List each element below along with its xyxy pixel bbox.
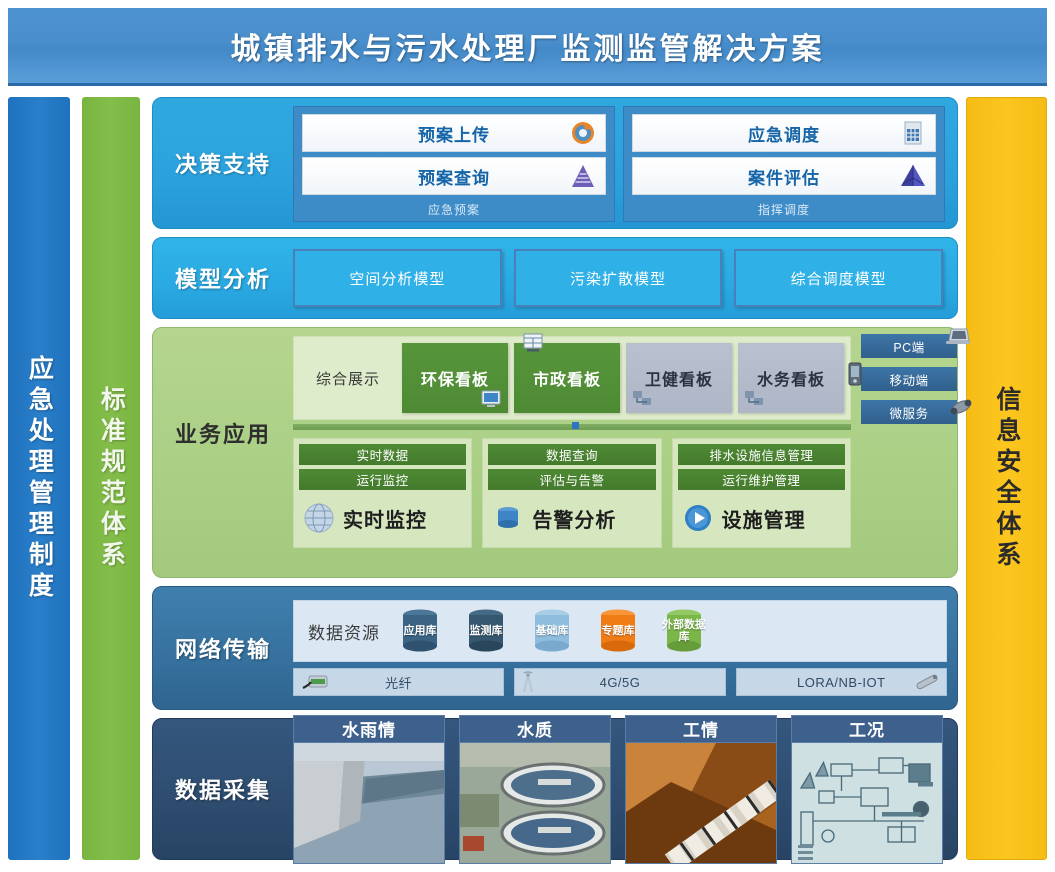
acquisition-card-water-quality[interactable]: 水质 [459, 715, 611, 864]
layer-decision-support: 决策支持 预案上传 预案查询 应急预案 [152, 97, 958, 229]
transport-item-lora[interactable]: LORA/NB-IOT [736, 668, 947, 696]
fiber-cable-icon [302, 671, 332, 693]
antenna-tower-icon [513, 671, 543, 693]
decision-item-emergency-dispatch[interactable]: 应急调度 [632, 114, 936, 152]
model-box-spatial[interactable]: 空间分析模型 [293, 249, 502, 307]
pillar-information-security: 信息安全体系 [966, 97, 1047, 860]
device-access-column: PC端 移动端 微服务 [861, 328, 957, 424]
decision-group-caption: 指挥调度 [632, 200, 936, 218]
dashboard-tile-label: 水务看板 [757, 366, 825, 390]
acquisition-card-hydrology[interactable]: 水雨情 [293, 715, 445, 864]
database-icon [490, 500, 526, 536]
sedimentation-tanks-photo [459, 743, 611, 864]
laptop-icon [945, 326, 971, 348]
acquisition-label: 工情 [625, 715, 777, 743]
monitor-icon [480, 389, 502, 409]
business-main-label: 设施管理 [722, 504, 806, 533]
dashboard-title: 综合展示 [300, 343, 396, 413]
network-icon [631, 388, 653, 408]
dashboard-strip: 综合展示 环保看板 市政看板 卫健看板 [293, 336, 851, 420]
database-label: 外部数据库 [658, 608, 710, 654]
data-resource-title: 数据资源 [308, 619, 380, 644]
database-cylinder-thematic[interactable]: 专题库 [592, 608, 644, 654]
decision-item-plan-query[interactable]: 预案查询 [302, 157, 606, 195]
business-sub-item[interactable]: 实时数据 [299, 444, 466, 465]
device-button-microservice[interactable]: 微服务 [861, 400, 957, 424]
pipeline-trench-photo [625, 743, 777, 864]
sensor-device-icon [912, 671, 942, 693]
business-sub-item[interactable]: 排水设施信息管理 [678, 444, 845, 465]
business-main-label: 告警分析 [532, 504, 616, 533]
business-card-alarm-analysis: 数据查询 评估与告警 告警分析 [482, 438, 661, 548]
device-label: 移动端 [889, 370, 928, 389]
decision-item-case-evaluation[interactable]: 案件评估 [632, 157, 936, 195]
dashboard-tile-water-affairs[interactable]: 水务看板 [738, 343, 844, 413]
business-card-realtime-monitoring: 实时数据 运行监控 实时监控 [293, 438, 472, 548]
acquisition-card-operating-condition[interactable]: 工况 [791, 715, 943, 864]
dashboard-tile-municipal[interactable]: 市政看板 [514, 343, 620, 413]
database-cylinder-external[interactable]: 外部数据库 [658, 608, 710, 654]
transport-label: 光纤 [385, 673, 412, 692]
business-main-label: 实时监控 [343, 504, 427, 533]
transport-item-4g5g[interactable]: 4G/5G [514, 668, 725, 696]
layer-model-analysis: 模型分析 空间分析模型 污染扩散模型 综合调度模型 [152, 237, 958, 319]
database-label: 专题库 [592, 608, 644, 654]
title-banner: 城镇排水与污水处理厂监测监管解决方案 [8, 8, 1047, 86]
blue-pyramid-icon [899, 162, 927, 190]
device-label: PC端 [893, 337, 924, 356]
pillar-security-label: 信息安全体系 [992, 386, 1021, 572]
device-button-mobile[interactable]: 移动端 [861, 367, 957, 391]
globe-icon [301, 500, 337, 536]
database-cylinder-basic[interactable]: 基础库 [526, 608, 578, 654]
handset-icon [949, 396, 973, 418]
layer-model-label: 模型分析 [153, 262, 293, 294]
pillar-standards-system: 标准规范体系 [82, 97, 140, 860]
database-cylinder-monitoring[interactable]: 监测库 [460, 608, 512, 654]
dashboard-tile-label: 市政看板 [533, 366, 601, 390]
dashboard-tile-environment[interactable]: 环保看板 [402, 343, 508, 413]
business-card-facility-management: 排水设施信息管理 运行维护管理 设施管理 [672, 438, 851, 548]
dashboard-tile-label: 环保看板 [421, 366, 489, 390]
acquisition-label: 工况 [791, 715, 943, 743]
decision-item-label: 案件评估 [748, 164, 820, 189]
decision-item-label: 预案上传 [418, 121, 490, 146]
layer-data-label: 数据采集 [153, 773, 293, 805]
database-label: 监测库 [460, 608, 512, 654]
business-sub-item[interactable]: 评估与告警 [488, 469, 655, 490]
layer-decision-label: 决策支持 [153, 147, 293, 179]
play-circle-icon [680, 500, 716, 536]
business-sub-item[interactable]: 数据查询 [488, 444, 655, 465]
transport-row: 光纤 4G/5G LORA/NB-IOT [293, 668, 947, 696]
model-box-integrated-dispatch[interactable]: 综合调度模型 [734, 249, 943, 307]
layer-network-label: 网络传输 [153, 632, 293, 664]
database-label: 应用库 [394, 608, 446, 654]
mobile-phone-icon [845, 362, 865, 384]
page-title: 城镇排水与污水处理厂监测监管解决方案 [231, 24, 825, 68]
pillar-emergency-management: 应急处理管理制度 [8, 97, 70, 860]
refresh-cycle-icon [569, 119, 597, 147]
layer-business-label: 业务应用 [153, 328, 293, 538]
acquisition-label: 水质 [459, 715, 611, 743]
decision-group-command-dispatch: 应急调度 案件评估 指挥调度 [623, 106, 945, 222]
dashboard-tile-label: 卫健看板 [645, 366, 713, 390]
acquisition-card-engineering[interactable]: 工情 [625, 715, 777, 864]
layer-network-transmission: 网络传输 数据资源 应用库 [152, 586, 958, 710]
dashboard-tile-health[interactable]: 卫健看板 [626, 343, 732, 413]
scada-schematic-photo [791, 743, 943, 864]
layer-data-acquisition: 数据采集 水雨情 水质 [152, 718, 958, 860]
pillar-emergency-label: 应急处理管理制度 [25, 355, 54, 603]
business-sub-item[interactable]: 运行维护管理 [678, 469, 845, 490]
business-sub-item[interactable]: 运行监控 [299, 469, 466, 490]
database-cylinder-application[interactable]: 应用库 [394, 608, 446, 654]
data-resource-strip: 数据资源 应用库 监测库 [293, 600, 947, 662]
model-box-pollution-diffusion[interactable]: 污染扩散模型 [514, 249, 723, 307]
decision-item-label: 预案查询 [418, 164, 490, 189]
transport-label: 4G/5G [600, 675, 641, 690]
transport-label: LORA/NB-IOT [797, 675, 886, 690]
decision-group-emergency-plan: 预案上传 预案查询 应急预案 [293, 106, 615, 222]
river-embankment-photo [293, 743, 445, 864]
purple-pyramid-icon [569, 162, 597, 190]
network-icon [743, 388, 765, 408]
dashboard-divider [293, 424, 851, 430]
acquisition-label: 水雨情 [293, 715, 445, 743]
pillar-standard-label: 标准规范体系 [97, 386, 126, 572]
device-button-pc[interactable]: PC端 [861, 334, 957, 358]
device-label: 微服务 [889, 403, 928, 422]
layer-business-application: 业务应用 综合展示 环保看板 市政看板 [152, 327, 958, 578]
transport-item-fiber[interactable]: 光纤 [293, 668, 504, 696]
decision-item-plan-upload[interactable]: 预案上传 [302, 114, 606, 152]
window-icon [522, 333, 544, 353]
architecture-stack: 决策支持 预案上传 预案查询 应急预案 [152, 97, 958, 860]
database-label: 基础库 [526, 608, 578, 654]
decision-group-caption: 应急预案 [302, 200, 606, 218]
grid-table-icon [899, 119, 927, 147]
decision-item-label: 应急调度 [748, 121, 820, 146]
